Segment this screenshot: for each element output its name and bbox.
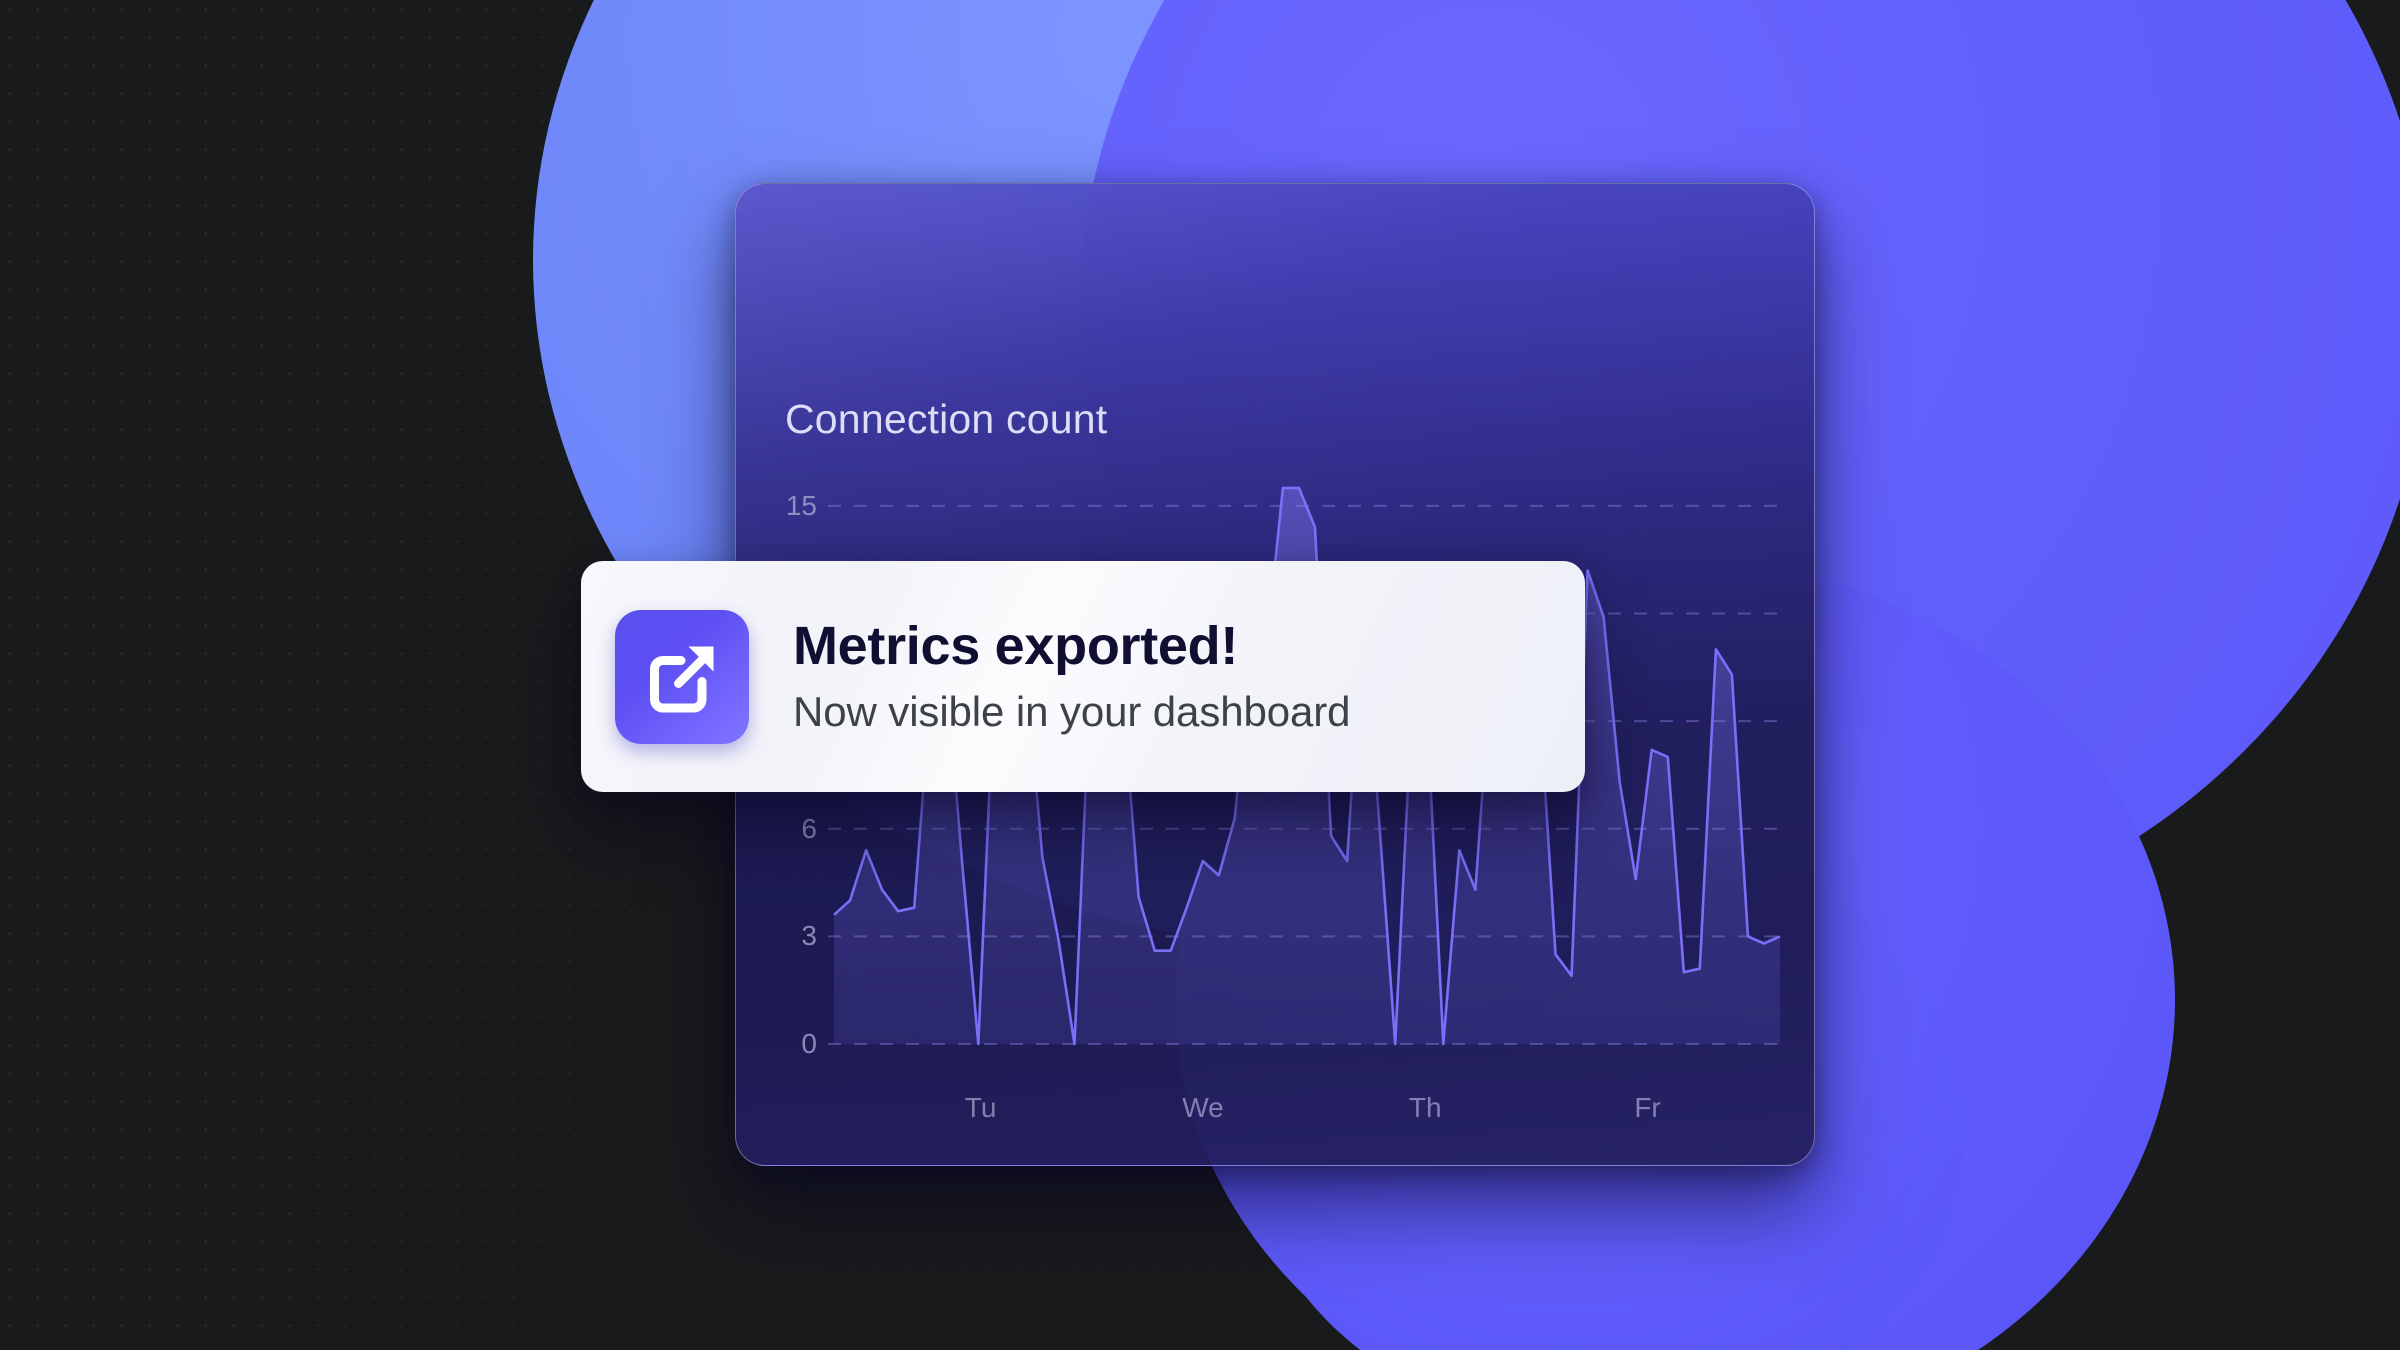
y-axis-tick-label: 15 [786, 490, 817, 522]
y-axis-tick-label: 0 [801, 1028, 817, 1060]
x-axis-tick-label: We [1182, 1092, 1224, 1124]
x-axis-tick-label: Th [1409, 1092, 1442, 1124]
x-axis-tick-label: Tu [965, 1092, 997, 1124]
y-axis-tick-label: 6 [801, 813, 817, 845]
screenshot-stage: Connection count 03691215 TuWeThFr [0, 0, 2400, 1350]
external-link-export-icon [615, 610, 749, 744]
toast-title: Metrics exported! [793, 618, 1350, 675]
metrics-exported-toast[interactable]: Metrics exported! Now visible in your da… [581, 561, 1585, 792]
toast-subtitle: Now visible in your dashboard [793, 689, 1350, 735]
x-axis-tick-label: Fr [1634, 1092, 1660, 1124]
toast-text-block: Metrics exported! Now visible in your da… [793, 618, 1350, 734]
y-axis-tick-label: 3 [801, 920, 817, 952]
